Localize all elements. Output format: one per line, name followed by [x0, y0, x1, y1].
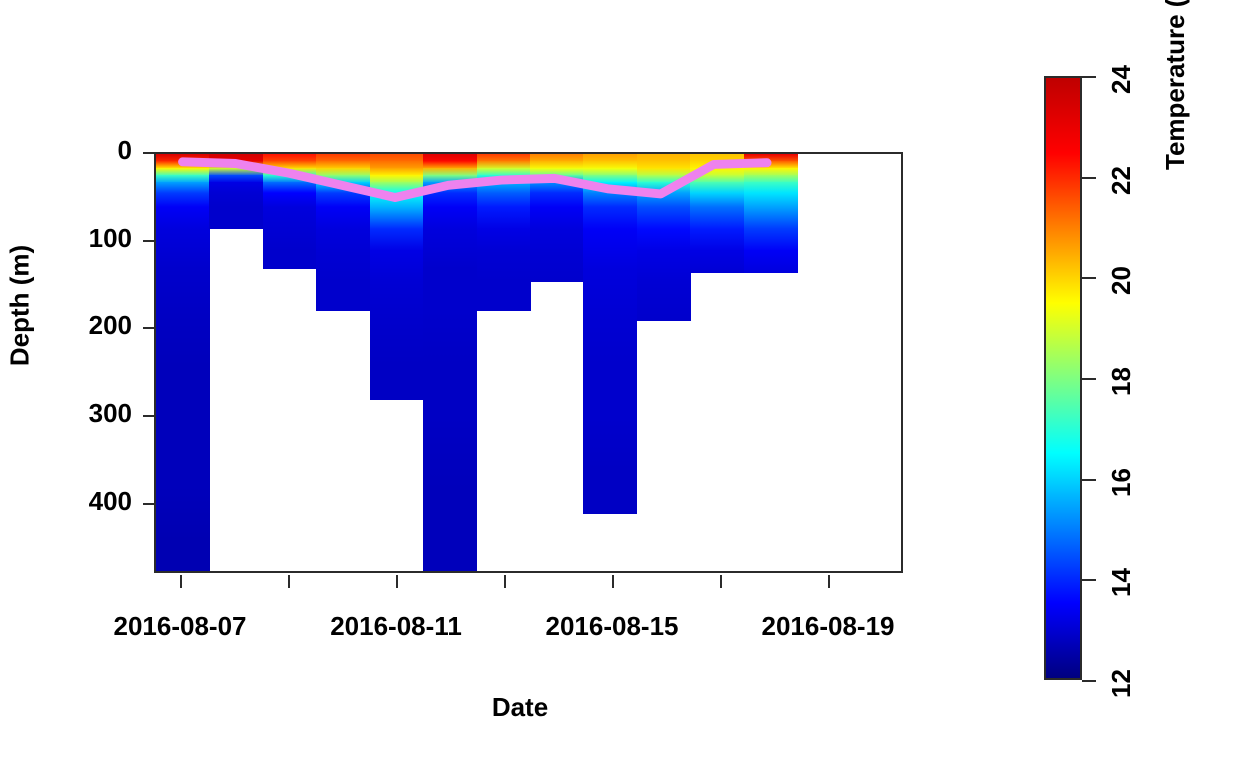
- colorbar-tick: [1082, 680, 1096, 682]
- y-tick-label: 300: [0, 398, 132, 429]
- x-tick: [396, 575, 398, 588]
- y-tick-label: 0: [0, 135, 132, 166]
- colorbar-tick-label: 24: [1106, 65, 1137, 94]
- x-tick: [612, 575, 614, 588]
- x-tick-label: 2016-08-19: [718, 611, 938, 642]
- x-tick-label: 2016-08-15: [502, 611, 722, 642]
- x-tick: [180, 575, 182, 588]
- x-axis-title: Date: [0, 692, 1040, 723]
- colorbar-gradient: [1044, 76, 1082, 680]
- colorbar-tick: [1082, 277, 1096, 279]
- x-tick: [828, 575, 830, 588]
- x-tick: [288, 575, 290, 588]
- colorbar-tick-label: 16: [1106, 468, 1137, 497]
- x-tick: [720, 575, 722, 588]
- colorbar-title: Temperature (°C): [1160, 0, 1191, 170]
- colorbar-tick-label: 12: [1106, 669, 1137, 698]
- colorbar-tick-label: 22: [1106, 166, 1137, 195]
- colorbar-tick: [1082, 177, 1096, 179]
- y-tick-label: 100: [0, 223, 132, 254]
- plot-area: [154, 152, 903, 573]
- y-tick: [143, 152, 154, 154]
- chart-canvas: Depth (m) Date 0100200300400 2016-08-072…: [0, 0, 1248, 768]
- x-tick-label: 2016-08-07: [70, 611, 290, 642]
- y-tick: [143, 503, 154, 505]
- x-tick: [504, 575, 506, 588]
- colorbar-tick-label: 18: [1106, 367, 1137, 396]
- y-tick: [143, 240, 154, 242]
- mixed-layer-depth-line: [156, 154, 901, 571]
- y-tick-label: 400: [0, 486, 132, 517]
- x-tick-label: 2016-08-11: [286, 611, 506, 642]
- y-tick: [143, 327, 154, 329]
- y-tick: [143, 415, 154, 417]
- colorbar-tick-label: 14: [1106, 568, 1137, 597]
- colorbar-tick: [1082, 76, 1096, 78]
- colorbar-tick: [1082, 579, 1096, 581]
- colorbar-tick: [1082, 479, 1096, 481]
- y-tick-label: 200: [0, 310, 132, 341]
- colorbar-tick-label: 20: [1106, 266, 1137, 295]
- colorbar-tick: [1082, 378, 1096, 380]
- colorbar: 12141618202224: [1044, 76, 1082, 680]
